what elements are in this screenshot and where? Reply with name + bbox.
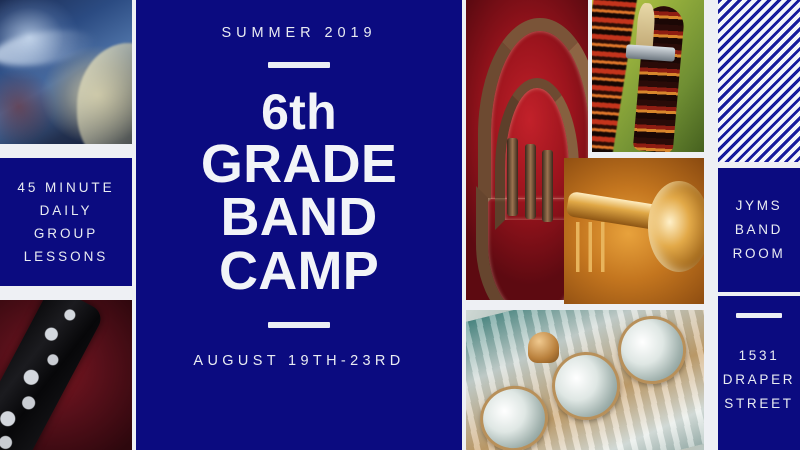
headline-line-2: GRADE [201, 138, 397, 191]
lesson-details-text: 45 MINUTE DAILY GROUP LESSONS [17, 176, 114, 269]
headline-line-3: BAND [201, 191, 397, 244]
oboe-on-red-velvet-photo [0, 300, 132, 450]
instrument-body [592, 0, 638, 152]
diagonal-stripe-swatch [718, 0, 800, 162]
drum-kit-cymbal-photo [0, 0, 132, 144]
address-panel: 1531 DRAPER STREET [718, 296, 800, 450]
venue-text: JYMS BAND ROOM [733, 194, 786, 266]
clarinet-mouthpiece-photo [592, 0, 704, 152]
trumpet-valves [572, 222, 620, 272]
euphonium-valve-1 [507, 138, 518, 216]
euphonium-valve-2 [525, 144, 536, 219]
cymbal-highlight [0, 24, 97, 71]
lesson-details-panel: 45 MINUTE DAILY GROUP LESSONS [0, 158, 132, 286]
address-text: 1531 DRAPER STREET [723, 344, 795, 416]
venue-panel: JYMS BAND ROOM [718, 168, 800, 292]
headline-line-1: 6th [201, 88, 397, 138]
page-title: 6th GRADE BAND CAMP [201, 88, 397, 298]
season-eyebrow: SUMMER 2019 [222, 22, 377, 44]
oboe-keys [0, 300, 105, 450]
cymbal-rim [77, 43, 132, 144]
trumpet-bell [648, 181, 704, 272]
trumpet-bell-photo [564, 158, 704, 304]
flute-keys-photo [466, 310, 704, 450]
divider-top [268, 62, 330, 68]
event-date-text: AUGUST 19TH-23RD [193, 350, 404, 372]
band-camp-poster: 45 MINUTE DAILY GROUP LESSONS SUMMER 201… [0, 0, 800, 450]
main-title-panel: SUMMER 2019 6th GRADE BAND CAMP AUGUST 1… [136, 0, 462, 450]
divider-bottom [268, 322, 330, 328]
flute-key-post [528, 332, 559, 363]
euphonium-valve-3 [542, 150, 553, 222]
ligature [625, 44, 675, 61]
divider-address [736, 313, 782, 318]
headline-line-4: CAMP [201, 245, 397, 298]
